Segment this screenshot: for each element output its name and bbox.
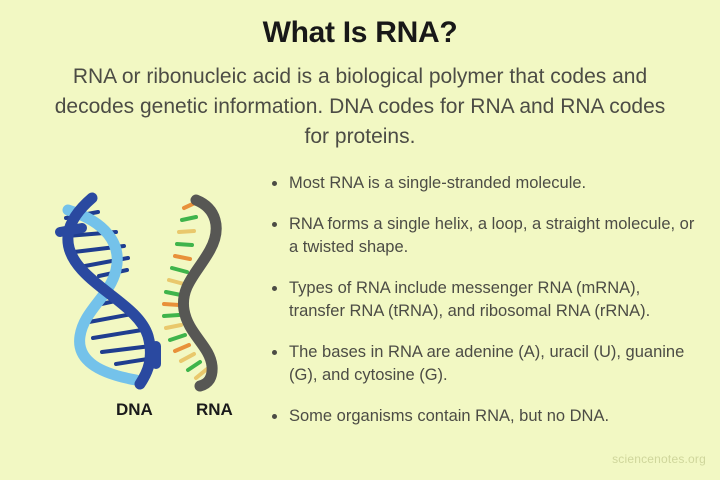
attribution-text: sciencenotes.org bbox=[612, 452, 706, 466]
list-item-text: Types of RNA include messenger RNA (mRNA… bbox=[289, 279, 650, 320]
bullet-dot-icon bbox=[272, 222, 277, 227]
list-item-text: RNA forms a single helix, a loop, a stra… bbox=[289, 215, 694, 256]
list-item: The bases in RNA are adenine (A), uracil… bbox=[268, 341, 698, 387]
list-item-text: The bases in RNA are adenine (A), uracil… bbox=[289, 343, 684, 384]
list-item: Most RNA is a single-stranded molecule. bbox=[268, 172, 698, 195]
rna-caption-label: RNA bbox=[196, 400, 233, 420]
illustration-captions: DNA RNA bbox=[44, 400, 276, 424]
dna-caption-label: DNA bbox=[116, 400, 153, 420]
bullet-dot-icon bbox=[272, 414, 277, 419]
list-item: Types of RNA include messenger RNA (mRNA… bbox=[268, 277, 698, 323]
infographic-canvas: What Is RNA? RNA or ribonucleic acid is … bbox=[0, 0, 720, 480]
bullet-dot-icon bbox=[272, 181, 277, 186]
list-item: RNA forms a single helix, a loop, a stra… bbox=[268, 213, 698, 259]
list-item: Some organisms contain RNA, but no DNA. bbox=[268, 405, 698, 428]
bullet-dot-icon bbox=[272, 286, 277, 291]
list-item-text: Most RNA is a single-stranded molecule. bbox=[289, 174, 586, 192]
bullet-dot-icon bbox=[272, 350, 277, 355]
page-title: What Is RNA? bbox=[0, 16, 720, 50]
dna-strand-tail-top bbox=[60, 228, 82, 232]
dna-double-helix bbox=[60, 198, 156, 384]
list-item-text: Some organisms contain RNA, but no DNA. bbox=[289, 407, 609, 425]
intro-paragraph: RNA or ribonucleic acid is a biological … bbox=[40, 62, 680, 152]
rna-single-strand bbox=[164, 200, 216, 386]
rna-facts-list: Most RNA is a single-stranded molecule. … bbox=[268, 172, 698, 428]
dna-rna-illustration bbox=[44, 188, 276, 398]
